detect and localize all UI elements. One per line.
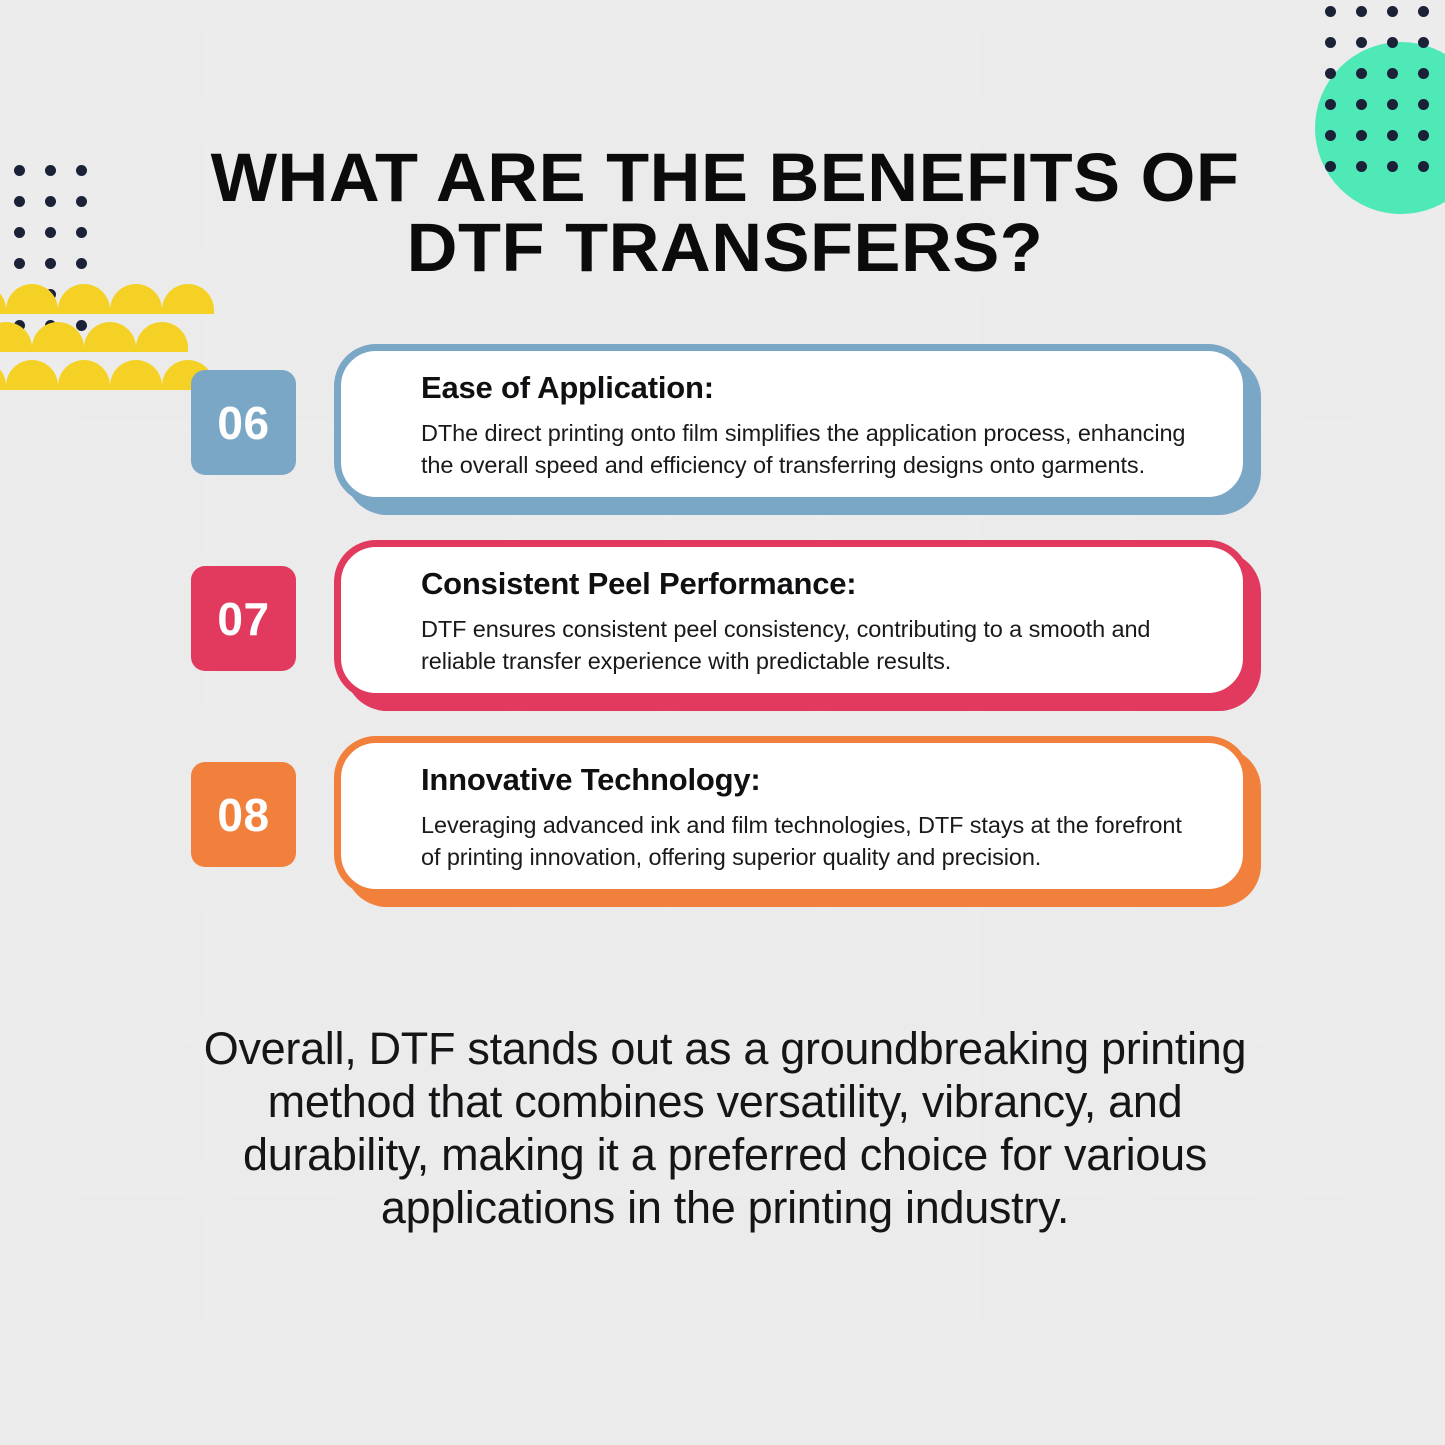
summary-paragraph: Overall, DTF stands out as a groundbreak…	[175, 1022, 1275, 1234]
background-grid-cell	[368, 1349, 510, 1445]
decorative-dot	[14, 258, 25, 269]
background-grid-cell	[62, 1349, 204, 1445]
benefit-card-title: Consistent Peel Performance:	[421, 566, 1207, 602]
benefit-card-body: DTF ensures consistent peel consistency,…	[421, 614, 1207, 677]
background-grid-cell	[1286, 1196, 1428, 1338]
decorative-dot	[76, 165, 87, 176]
decorative-dot	[45, 165, 56, 176]
background-grid-cell	[215, 0, 357, 114]
background-grid-cell	[1133, 1349, 1275, 1445]
background-grid-cell	[1133, 0, 1275, 114]
teal-circle-decoration	[1315, 42, 1445, 214]
benefit-card: Ease of Application:DThe direct printing…	[334, 344, 1250, 504]
decorative-dot	[45, 196, 56, 207]
benefit-card: Innovative Technology:Leveraging advance…	[334, 736, 1250, 896]
decorative-dot	[1356, 6, 1367, 17]
background-grid-cell	[674, 0, 816, 114]
background-grid-cell	[1286, 1043, 1428, 1185]
decorative-dot	[45, 227, 56, 238]
decorative-dot	[14, 289, 25, 300]
decorative-dot	[76, 289, 87, 300]
decorative-dot	[1387, 6, 1398, 17]
decorative-dot	[76, 320, 87, 331]
yellow-arch	[6, 284, 58, 314]
decorative-dot	[76, 258, 87, 269]
decorative-dot	[1325, 6, 1336, 17]
benefit-card-title: Ease of Application:	[421, 370, 1207, 406]
background-grid-cell	[368, 0, 510, 114]
benefit-number-badge: 07	[191, 566, 296, 671]
arch-row	[0, 284, 154, 314]
decorative-dot	[45, 320, 56, 331]
benefit-card-body: DThe direct printing onto film simplifie…	[421, 418, 1207, 481]
background-grid-cell	[62, 0, 204, 114]
benefit-card-title: Innovative Technology:	[421, 762, 1207, 798]
benefit-number-badge: 06	[191, 370, 296, 475]
background-grid-cell	[827, 1349, 969, 1445]
dot-grid-left-decoration	[14, 165, 94, 355]
decorative-dot	[1356, 37, 1367, 48]
yellow-arch	[110, 284, 162, 314]
decorative-dot	[14, 320, 25, 331]
benefit-item: 07Consistent Peel Performance:DTF ensure…	[0, 540, 1445, 736]
benefit-card-wrapper: Consistent Peel Performance:DTF ensures …	[334, 540, 1250, 700]
benefit-number-label: 06	[217, 396, 269, 450]
benefit-number-label: 07	[217, 592, 269, 646]
background-grid-cell	[215, 1349, 357, 1445]
decorative-dot	[45, 289, 56, 300]
decorative-dot	[1418, 6, 1429, 17]
decorative-dot	[14, 227, 25, 238]
background-grid-cell	[521, 0, 663, 114]
background-grid-cell	[980, 0, 1122, 114]
benefit-card-wrapper: Innovative Technology:Leveraging advance…	[334, 736, 1250, 896]
background-grid-cell	[980, 1349, 1122, 1445]
benefits-list: 06Ease of Application:DThe direct printi…	[0, 344, 1445, 932]
page-title: WHAT ARE THE BENEFITS OF DTF TRANSFERS?	[139, 143, 1312, 284]
decorative-dot	[76, 196, 87, 207]
benefit-item: 08Innovative Technology:Leveraging advan…	[0, 736, 1445, 932]
decorative-dot	[76, 227, 87, 238]
benefit-number-badge: 08	[191, 762, 296, 867]
benefit-card-body: Leveraging advanced ink and film technol…	[421, 810, 1207, 873]
decorative-dot	[45, 258, 56, 269]
benefit-card-wrapper: Ease of Application:DThe direct printing…	[334, 344, 1250, 504]
yellow-arch	[162, 284, 214, 314]
background-grid-cell	[827, 0, 969, 114]
benefit-item: 06Ease of Application:DThe direct printi…	[0, 344, 1445, 540]
background-grid-cell	[521, 1349, 663, 1445]
background-grid-cell	[674, 1349, 816, 1445]
decorative-dot	[14, 165, 25, 176]
background-grid-cell	[1286, 1349, 1428, 1445]
yellow-arch	[58, 284, 110, 314]
benefit-number-label: 08	[217, 788, 269, 842]
decorative-dot	[14, 196, 25, 207]
infographic-poster: WHAT ARE THE BENEFITS OF DTF TRANSFERS? …	[0, 0, 1445, 1445]
yellow-arch	[0, 284, 6, 314]
decorative-dot	[1325, 37, 1336, 48]
benefit-card: Consistent Peel Performance:DTF ensures …	[334, 540, 1250, 700]
